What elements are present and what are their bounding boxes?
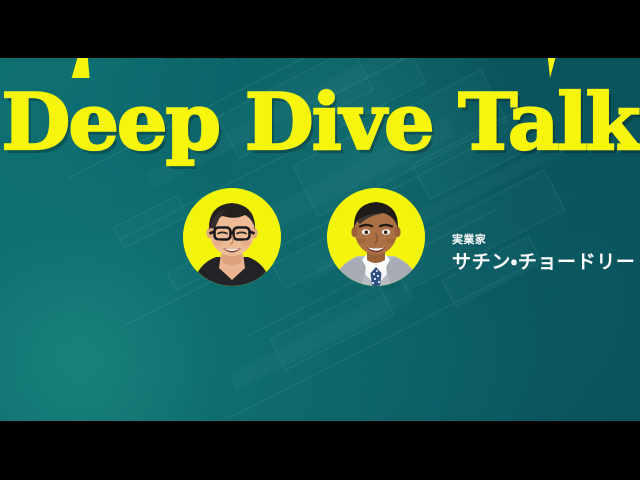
letterbox-top: [0, 0, 640, 58]
portrait-fujino: [183, 188, 281, 286]
host-name: サチン・チョードリー: [452, 250, 635, 274]
portrait-sachin: [327, 188, 425, 286]
avatar: [183, 188, 281, 286]
video-thumbnail-frame: 藤野英人とサチンの Deep Dive Talk: [0, 0, 640, 480]
letterbox-bottom: [0, 421, 640, 480]
avatar: [327, 188, 425, 286]
role-line-1: 実業家: [452, 233, 635, 247]
credit-sachin: 実業家 サチン・チョードリー: [452, 233, 635, 274]
